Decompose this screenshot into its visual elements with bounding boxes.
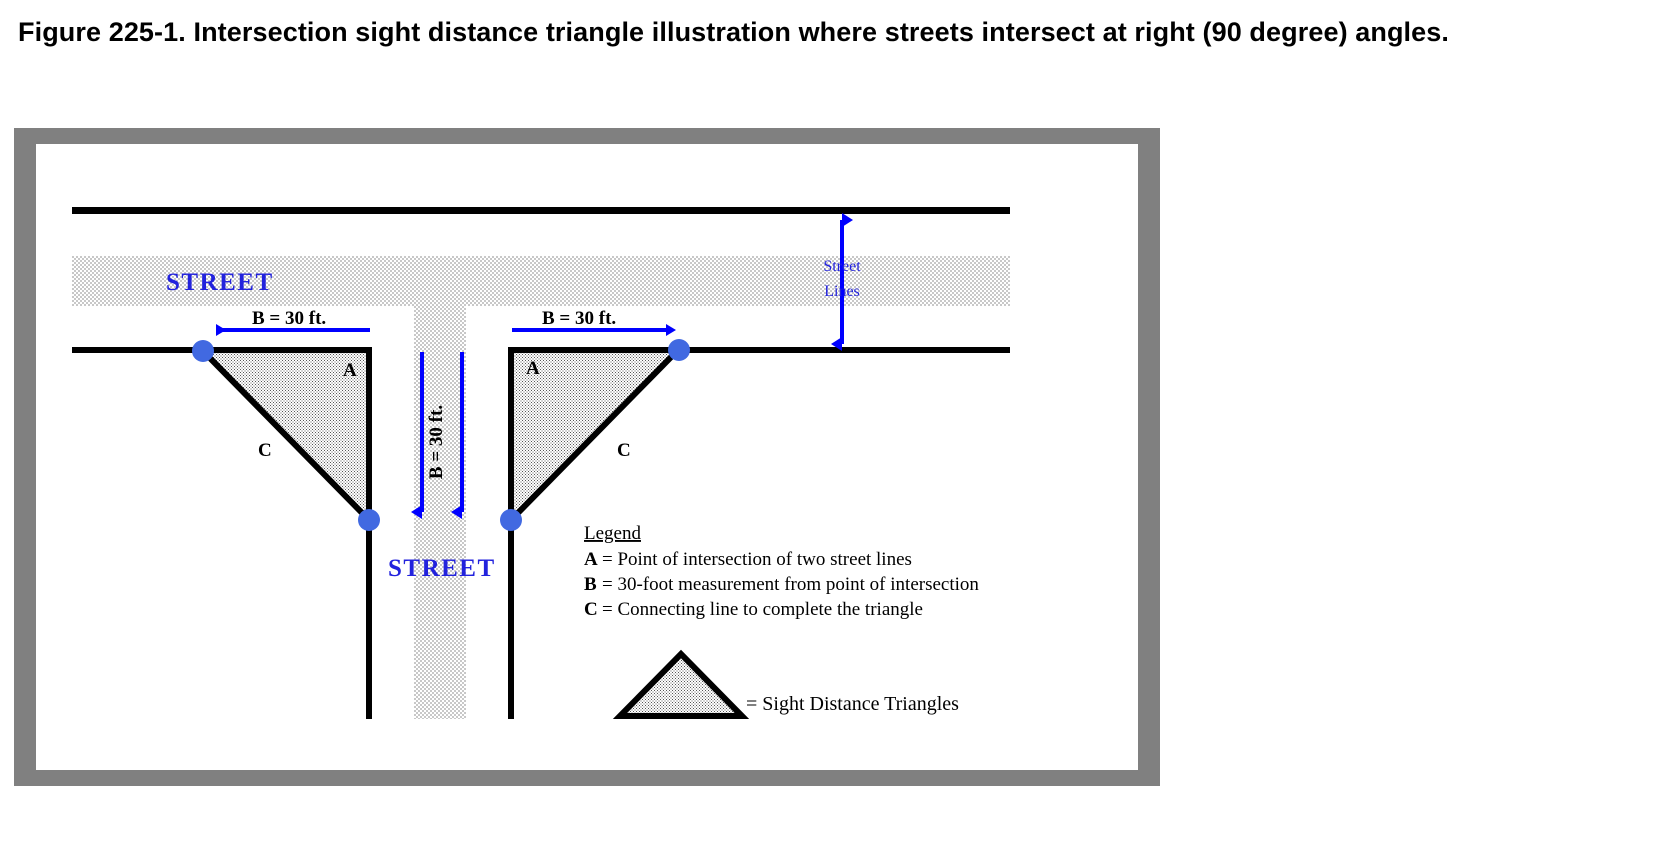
legend-entry: A = Point of intersection of two street … [584,549,912,570]
legend-entry: C = Connecting line to complete the tria… [584,599,923,620]
legend-sample-label: = Sight Distance Triangles [746,693,959,715]
street-lines-callout-line1: Street [823,258,861,275]
legend-title: Legend [584,523,641,544]
street-label-vertical: STREET [388,555,496,582]
vertex-dot-left-bottom [358,509,380,531]
dimension-label-left: B = 30 ft. [252,308,326,329]
intersection-diagram: B = 30 ft. B = 30 ft. B = 30 ft. Street … [36,144,1138,770]
dimension-label-vertical: B = 30 ft. [426,405,447,479]
vertex-dot-left-top [192,340,214,362]
legend-text-c: = Connecting line to complete the triang… [602,599,923,620]
vertex-label-left-a: A [343,360,357,381]
vertex-label-left-c: C [258,440,272,461]
diagram-canvas: B = 30 ft. B = 30 ft. B = 30 ft. Street … [36,144,1138,770]
diagram-frame: B = 30 ft. B = 30 ft. B = 30 ft. Street … [14,128,1160,786]
dimension-label-right: B = 30 ft. [542,308,616,329]
legend-text-b: = 30-foot measurement from point of inte… [602,574,979,595]
legend-sample-triangle [620,654,742,716]
street-line-top [72,207,1010,214]
legend-key-b: B [584,574,597,595]
legend-key-a: A [584,549,598,570]
legend-text-a: = Point of intersection of two street li… [602,549,912,570]
vertex-dot-right-bottom [500,509,522,531]
street-lines-callout-line2: Lines [824,283,860,300]
legend-entry: B = 30-foot measurement from point of in… [584,574,979,595]
street-label-horizontal: STREET [166,269,274,296]
vertex-label-right-c: C [617,440,631,461]
figure-caption: Figure 225-1. Intersection sight distanc… [18,14,1638,51]
vertex-dot-right-top [668,339,690,361]
legend-key-c: C [584,599,598,620]
vertex-label-right-a: A [526,358,540,379]
